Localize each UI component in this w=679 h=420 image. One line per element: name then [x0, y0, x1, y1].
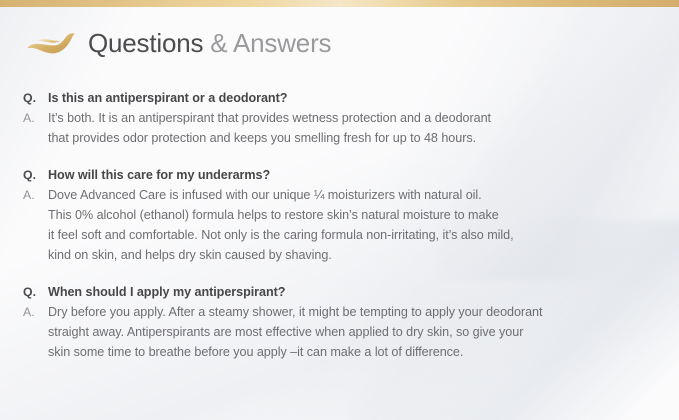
answer-marker: A.: [22, 108, 48, 148]
answer-line: Dry before you apply. After a steamy sho…: [48, 302, 542, 322]
faq-question-text: When should I apply my antiperspirant?: [48, 282, 285, 302]
faq-answer-text: It’s both. It is an antiperspirant that …: [48, 108, 491, 148]
faq-question-row: Q. Is this an antiperspirant or a deodor…: [0, 88, 679, 108]
page-title: Questions & Answers: [88, 30, 331, 56]
answer-marker: A.: [22, 185, 48, 265]
faq-question-text: Is this an antiperspirant or a deodorant…: [48, 88, 287, 108]
answer-line: that provides odor protection and keeps …: [48, 128, 491, 148]
faq-page: Questions & Answers Q. Is this an antipe…: [0, 0, 679, 420]
page-header: Questions & Answers: [0, 7, 679, 79]
faq-list: Q. Is this an antiperspirant or a deodor…: [0, 88, 679, 379]
page-title-strong: Questions: [88, 28, 203, 58]
answer-line: it feel soft and comfortable. Not only i…: [48, 225, 514, 245]
answer-line: Dove Advanced Care is infused with our u…: [48, 185, 514, 205]
faq-question-row: Q. How will this care for my underarms?: [0, 165, 679, 185]
question-marker: Q.: [22, 88, 48, 108]
answer-line: straight away. Antiperspirants are most …: [48, 322, 542, 342]
faq-item: Q. How will this care for my underarms? …: [0, 165, 679, 265]
answer-line: This 0% alcohol (ethanol) formula helps …: [48, 205, 514, 225]
faq-answer-row: A. Dove Advanced Care is infused with ou…: [0, 185, 679, 265]
answer-line: kind on skin, and helps dry skin caused …: [48, 245, 514, 265]
faq-item: Q. When should I apply my antiperspirant…: [0, 282, 679, 362]
dove-logo-icon: [26, 28, 78, 58]
faq-answer-row: A. Dry before you apply. After a steamy …: [0, 302, 679, 362]
answer-marker: A.: [22, 302, 48, 362]
faq-item: Q. Is this an antiperspirant or a deodor…: [0, 88, 679, 148]
faq-question-row: Q. When should I apply my antiperspirant…: [0, 282, 679, 302]
answer-line: skin some time to breathe before you app…: [48, 342, 542, 362]
faq-answer-row: A. It’s both. It is an antiperspirant th…: [0, 108, 679, 148]
answer-line: It’s both. It is an antiperspirant that …: [48, 108, 491, 128]
faq-question-text: How will this care for my underarms?: [48, 165, 270, 185]
faq-answer-text: Dry before you apply. After a steamy sho…: [48, 302, 542, 362]
gold-accent-bar: [0, 0, 679, 7]
question-marker: Q.: [22, 282, 48, 302]
page-title-light: & Answers: [210, 28, 331, 58]
faq-answer-text: Dove Advanced Care is infused with our u…: [48, 185, 514, 265]
question-marker: Q.: [22, 165, 48, 185]
